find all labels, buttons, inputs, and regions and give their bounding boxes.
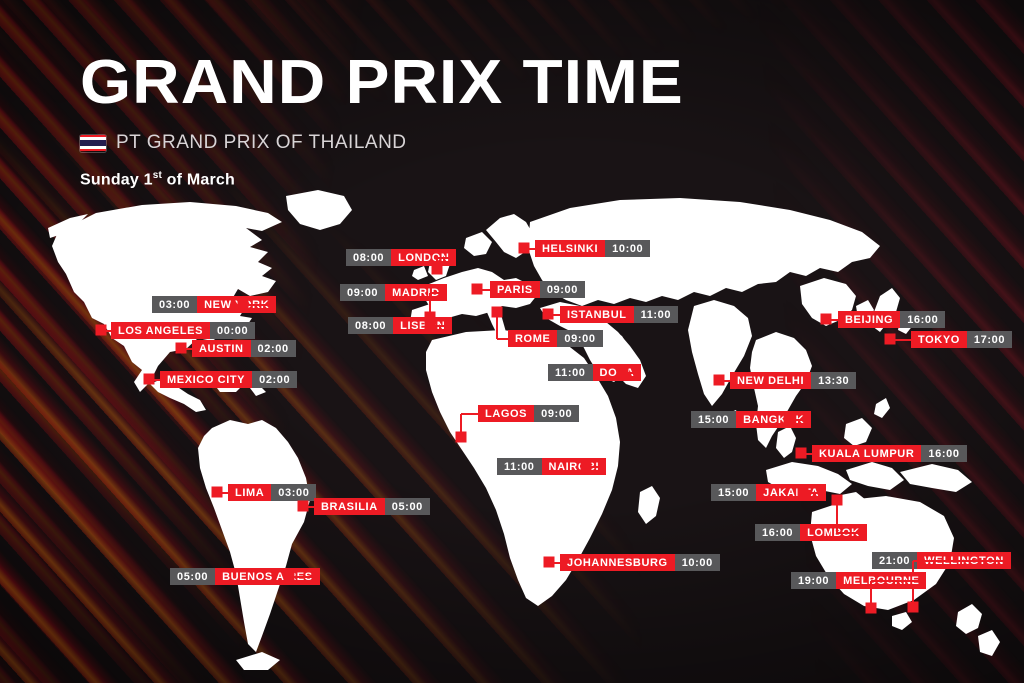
city-label-johannesburg[interactable]: JOHANNESBURG10:00: [560, 554, 720, 571]
city-time: 15:00: [691, 411, 736, 428]
event-date: Sunday 1st of March: [80, 170, 650, 189]
city-name: LIMA: [228, 484, 271, 501]
thailand-flag-icon: [80, 135, 106, 152]
city-name: MEXICO CITY: [160, 371, 252, 388]
map-marker-paris[interactable]: [472, 284, 483, 295]
city-time: 05:00: [170, 568, 215, 585]
city-time: 02:00: [251, 340, 296, 357]
page-title: GRAND PRIX TIME: [80, 52, 684, 114]
city-label-los-angeles[interactable]: LOS ANGELES00:00: [111, 322, 255, 339]
connector-line-london: [437, 257, 456, 259]
city-time: 13:30: [811, 372, 856, 389]
map-marker-new-york[interactable]: [238, 299, 249, 310]
poster-header: GRAND PRIX TIME PT GRAND PRIX OF THAILAN…: [80, 52, 650, 189]
map-marker-los-angeles[interactable]: [96, 325, 107, 336]
city-label-rome[interactable]: ROME09:00: [508, 330, 603, 347]
connector-line-melbourne: [871, 580, 926, 582]
city-label-tokyo[interactable]: TOKYO17:00: [911, 331, 1012, 348]
city-label-mexico-city[interactable]: MEXICO CITY02:00: [160, 371, 297, 388]
city-label-lima[interactable]: LIMA03:00: [228, 484, 316, 501]
city-name: AUSTIN: [192, 340, 251, 357]
map-marker-nairobi[interactable]: [581, 461, 592, 472]
city-time: 11:00: [548, 364, 593, 381]
map-marker-buenos-aires[interactable]: [284, 571, 295, 582]
connector-line-lombok: [837, 532, 867, 534]
event-subtitle-row: PT GRAND PRIX OF THAILAND: [80, 132, 650, 154]
city-name: LAGOS: [478, 405, 534, 422]
map-marker-istanbul[interactable]: [543, 309, 554, 320]
city-name: ISTANBUL: [560, 306, 634, 323]
city-name: ROME: [508, 330, 557, 347]
map-marker-johannesburg[interactable]: [544, 557, 555, 568]
map-marker-new-delhi[interactable]: [714, 375, 725, 386]
city-time: 10:00: [675, 554, 720, 571]
city-time: 16:00: [755, 524, 800, 541]
map-marker-kuala-lumpur[interactable]: [796, 448, 807, 459]
city-name: KUALA LUMPUR: [812, 445, 921, 462]
map-marker-rome[interactable]: [492, 307, 503, 318]
connector-line-rome: [497, 338, 508, 340]
city-time: 21:00: [872, 552, 917, 569]
city-time: 03:00: [152, 296, 197, 313]
city-name: BRASILIA: [314, 498, 385, 515]
city-time: 11:00: [497, 458, 542, 475]
map-marker-austin[interactable]: [176, 343, 187, 354]
city-time: 19:00: [791, 572, 836, 589]
city-label-helsinki[interactable]: HELSINKI10:00: [535, 240, 650, 257]
map-marker-brasilia[interactable]: [298, 501, 309, 512]
city-time: 09:00: [340, 284, 385, 301]
city-time: 10:00: [605, 240, 650, 257]
connector-line-lagos: [461, 413, 478, 415]
city-time: 08:00: [348, 317, 393, 334]
city-time: 09:00: [557, 330, 602, 347]
city-name: PARIS: [490, 281, 540, 298]
map-marker-london[interactable]: [432, 264, 443, 275]
connector-line-wellington: [913, 560, 1011, 562]
city-label-austin[interactable]: AUSTIN02:00: [192, 340, 296, 357]
city-time: 00:00: [210, 322, 255, 339]
city-name: TOKYO: [911, 331, 967, 348]
map-marker-beijing[interactable]: [821, 314, 832, 325]
map-marker-tokyo[interactable]: [885, 334, 896, 345]
connector-line-madrid: [430, 292, 447, 294]
date-prefix: Sunday 1: [80, 171, 153, 188]
map-marker-lisbon[interactable]: [425, 320, 436, 331]
city-label-kuala-lumpur[interactable]: KUALA LUMPUR16:00: [812, 445, 967, 462]
city-label-istanbul[interactable]: ISTANBUL11:00: [560, 306, 678, 323]
map-marker-jakarta[interactable]: [798, 487, 809, 498]
city-time: 17:00: [967, 331, 1012, 348]
city-name: NEW DELHI: [730, 372, 811, 389]
city-time: 03:00: [271, 484, 316, 501]
city-time: 11:00: [634, 306, 679, 323]
city-time: 08:00: [346, 249, 391, 266]
city-time: 02:00: [252, 371, 297, 388]
city-time: 16:00: [921, 445, 966, 462]
map-marker-mexico-city[interactable]: [144, 374, 155, 385]
city-name: HELSINKI: [535, 240, 605, 257]
map-marker-lima[interactable]: [212, 487, 223, 498]
city-label-paris[interactable]: PARIS09:00: [490, 281, 585, 298]
city-label-new-delhi[interactable]: NEW DELHI13:30: [730, 372, 856, 389]
map-marker-helsinki[interactable]: [519, 243, 530, 254]
city-name: BEIJING: [838, 311, 900, 328]
city-label-beijing[interactable]: BEIJING16:00: [838, 311, 945, 328]
date-suffix: of March: [162, 171, 235, 188]
map-marker-bangkok[interactable]: [784, 414, 795, 425]
event-name: PT GRAND PRIX OF THAILAND: [116, 132, 407, 154]
city-time: 09:00: [534, 405, 579, 422]
city-time: 05:00: [385, 498, 430, 515]
city-label-brasilia[interactable]: BRASILIA05:00: [314, 498, 430, 515]
city-time: 09:00: [540, 281, 585, 298]
city-name: LOS ANGELES: [111, 322, 210, 339]
city-time: 15:00: [711, 484, 756, 501]
date-ordinal: st: [153, 170, 162, 181]
map-marker-wellington[interactable]: [908, 602, 919, 613]
map-marker-melbourne[interactable]: [866, 603, 877, 614]
city-label-lagos[interactable]: LAGOS09:00: [478, 405, 579, 422]
map-marker-lagos[interactable]: [456, 432, 467, 443]
map-marker-doha[interactable]: [618, 367, 629, 378]
city-name: JOHANNESBURG: [560, 554, 675, 571]
map-marker-lombok[interactable]: [832, 495, 843, 506]
city-time: 16:00: [900, 311, 945, 328]
